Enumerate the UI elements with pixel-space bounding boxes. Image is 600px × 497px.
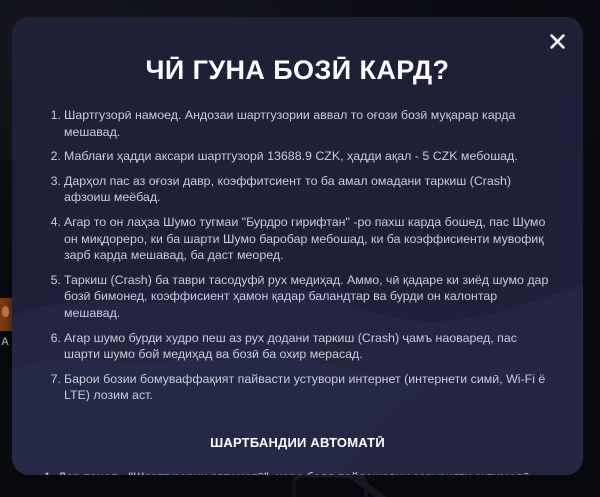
list-item-number: 3. [44, 173, 61, 190]
modal-content: ЧӢ ГУНА БОЗӢ КАРД? 1. Шартгузорӣ намоед.… [12, 17, 583, 475]
promo-flame-icon [2, 306, 9, 317]
list-item: 1. Шартгузорӣ намоед. Андозаи шартгузори… [44, 107, 554, 140]
list-item: 6. Агар шумо бурди худро пеш аз рух дода… [44, 330, 554, 363]
backdrop-promo-letter: A [1, 336, 9, 348]
list-item-number: 1. [44, 470, 54, 475]
list-item: 7. Барои бозии бомуваффақият пайвасти ус… [44, 371, 554, 404]
list-item-text: Дарҳол пас аз оғози давр, коэффитсиент т… [64, 174, 511, 205]
close-icon [549, 33, 566, 50]
list-item-number: 2. [44, 148, 61, 165]
list-item: 3. Дарҳол пас аз оғози давр, коэффитсиен… [44, 173, 554, 206]
list-item-number: 5. [44, 272, 61, 289]
list-item: 4. Агар то он лаҳза Шумо тугмаи "Бурдро … [44, 214, 554, 264]
list-item-number: 1. [44, 107, 61, 124]
list-item-number: 7. [44, 371, 61, 388]
list-item: 2. Маблағи ҳадди аксари шартгузорӣ 13688… [44, 148, 554, 165]
list-item-number: 6. [44, 330, 61, 347]
list-item-text: Маблағи ҳадди аксари шартгузорӣ 13688.9 … [64, 149, 518, 163]
list-item-text: Агар то он лаҳза Шумо тугмаи "Бурдро гир… [64, 215, 545, 262]
list-item-text: Барои бозии бомуваффақият пайвасти устув… [64, 372, 545, 403]
how-to-play-steps-list: 1. Шартгузорӣ намоед. Андозаи шартгузори… [44, 107, 554, 404]
page-title: ЧӢ ГУНА БОЗӢ КАРД? [12, 57, 583, 84]
how-to-play-modal: ЧӢ ГУНА БОЗӢ КАРД? 1. Шартгузорӣ намоед.… [12, 17, 583, 475]
list-item: 5. Таркиш (Crash) ба таври тасодуфӣ рух … [44, 272, 554, 322]
list-item-text: Дар панел - "Шартгузории автоматӣ" -ҳоро… [58, 470, 530, 475]
list-item-number: 4. [44, 214, 61, 231]
close-button[interactable] [540, 24, 574, 58]
list-item-text: Шартгузорӣ намоед. Андозаи шартгузории а… [64, 108, 515, 139]
list-item-text: Таркиш (Crash) ба таври тасодуфӣ рух мед… [64, 273, 548, 320]
section-heading-auto-bet: ШАРТБАНДИИ АВТОМАТӢ [12, 435, 583, 450]
list-item-text: Агар шумо бурди худро пеш аз рух додани … [64, 331, 517, 362]
auto-bet-first-step: 1. Дар панел - "Шартгузории автоматӣ" -ҳ… [44, 469, 556, 475]
